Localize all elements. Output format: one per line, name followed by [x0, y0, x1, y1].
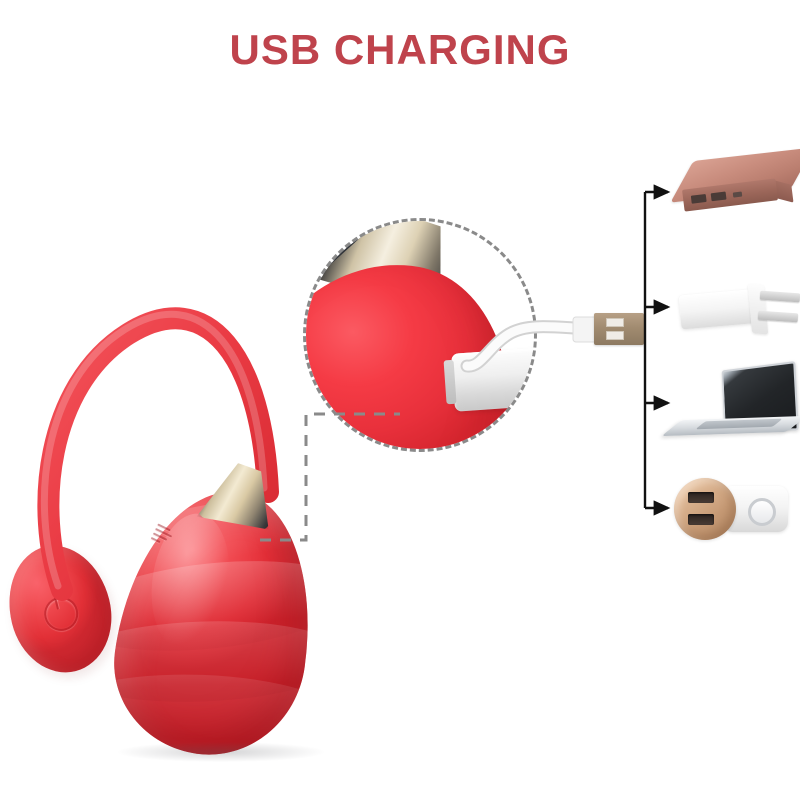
device-wall-adapter [680, 280, 796, 346]
device-laptop [672, 366, 800, 450]
infographic-canvas: USB CHARGING [0, 0, 800, 800]
power-icon [41, 593, 82, 634]
product-main-body [112, 470, 322, 770]
magnified-charging-plug [451, 346, 537, 412]
magnifier-detail-circle [303, 218, 537, 452]
device-car-charger [672, 470, 798, 550]
magnifier-content [303, 218, 537, 452]
car-charger-contact-ring [748, 498, 776, 526]
product-body-silicone [102, 478, 327, 767]
usb-port-icon [711, 192, 727, 202]
usb-port-icon [691, 194, 707, 204]
page-title: USB CHARGING [0, 26, 800, 74]
usb-port-icon [688, 514, 714, 525]
micro-usb-port-icon [733, 192, 743, 198]
product-shadow [118, 742, 324, 762]
usb-a-connector [594, 313, 644, 345]
device-power-bank [676, 146, 800, 228]
usb-port-icon [688, 492, 714, 503]
car-charger-head [674, 478, 736, 540]
product-remote [0, 535, 124, 683]
plug-prong-icon [760, 291, 800, 303]
